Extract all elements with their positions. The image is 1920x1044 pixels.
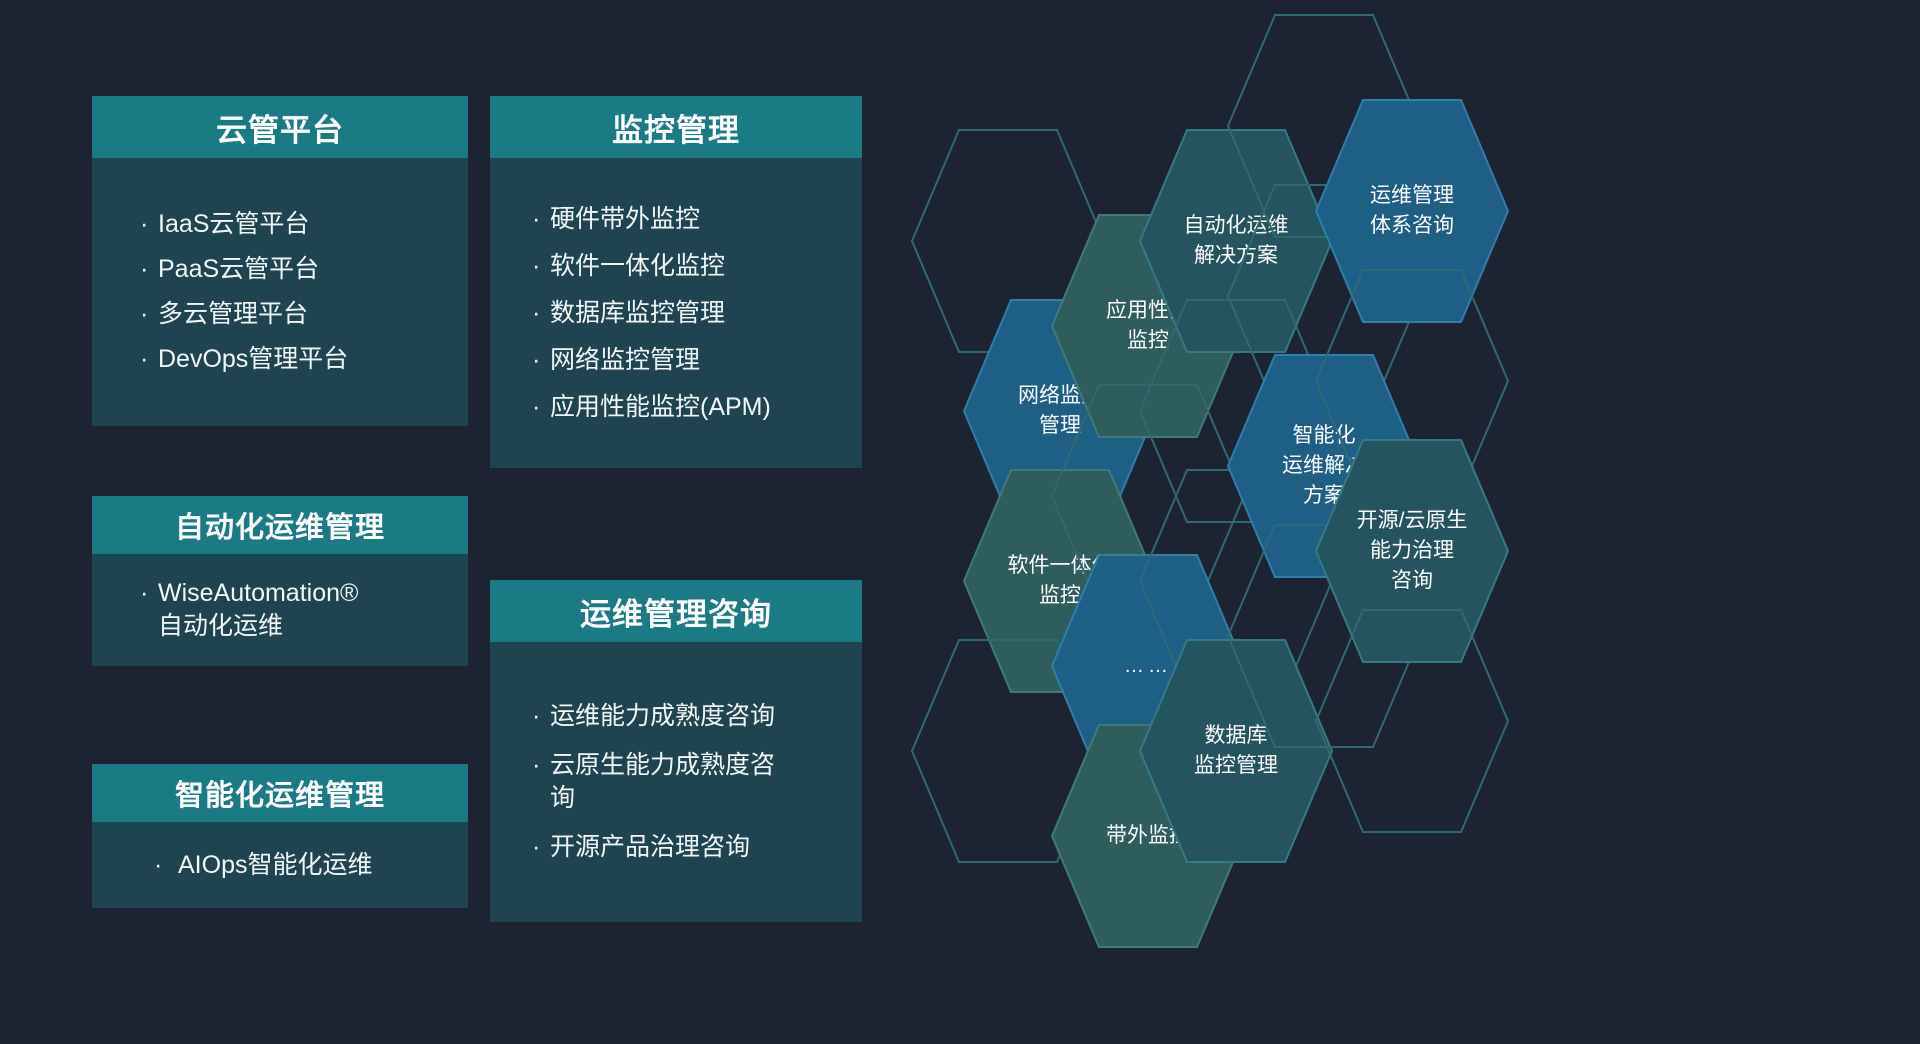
list-item: ·WiseAutomation® 自动化运维: [138, 577, 468, 643]
list-item: ·DevOps管理平台: [138, 343, 468, 376]
list-item-label: 运维能力成熟度咨询: [550, 702, 775, 730]
list-item-label: 硬件带外监控: [550, 205, 700, 233]
list-item-label: 网络监控管理: [550, 346, 700, 374]
card-cloud-platform-list: ·IaaS云管平台 ·PaaS云管平台 ·多云管理平台 ·DevOps管理平台: [138, 196, 468, 388]
list-item-label: 数据库监控管理: [550, 299, 725, 327]
list-item-label: WiseAutomation® 自动化运维: [158, 579, 358, 640]
bullet-dot: ·: [140, 208, 148, 241]
card-ops-consulting-body: ·运维能力成熟度咨询 ·云原生能力成熟度咨 询 ·开源产品治理咨询: [490, 642, 862, 922]
bullet-dot: ·: [532, 391, 540, 424]
list-item: ·硬件带外监控: [530, 203, 862, 236]
slide-canvas: 云管平台 ·IaaS云管平台 ·PaaS云管平台 ·多云管理平台 ·DevOps…: [0, 0, 1920, 1044]
list-item: ·PaaS云管平台: [138, 253, 468, 286]
bullet-dot: ·: [532, 344, 540, 377]
list-item-label: IaaS云管平台: [158, 210, 309, 238]
list-item: ·开源产品治理咨询: [530, 831, 862, 864]
bullet-dot: ·: [140, 298, 148, 331]
list-item: ·云原生能力成熟度咨 询: [530, 749, 862, 815]
card-automation-ops-body: ·WiseAutomation® 自动化运维: [92, 554, 468, 666]
card-monitoring-management[interactable]: 监控管理 ·硬件带外监控 ·软件一体化监控 ·数据库监控管理 ·网络监控管理 ·…: [490, 96, 862, 468]
list-item-label: 应用性能监控(APM): [550, 393, 771, 421]
bullet-dot: ·: [532, 831, 540, 864]
card-ops-consulting-list: ·运维能力成熟度咨询 ·云原生能力成熟度咨 询 ·开源产品治理咨询: [530, 684, 862, 880]
list-item-label: 软件一体化监控: [550, 252, 725, 280]
card-automation-ops-title: 自动化运维管理: [92, 496, 468, 554]
card-cloud-platform[interactable]: 云管平台 ·IaaS云管平台 ·PaaS云管平台 ·多云管理平台 ·DevOps…: [92, 96, 468, 426]
list-item-label: PaaS云管平台: [158, 255, 319, 283]
hexagon-node-empty: [1314, 608, 1510, 834]
card-aiops-ops-body: ·AIOps智能化运维: [92, 822, 468, 908]
card-aiops-ops[interactable]: 智能化运维管理 ·AIOps智能化运维: [92, 764, 468, 908]
bullet-dot: ·: [140, 577, 148, 610]
card-monitoring-management-title: 监控管理: [490, 96, 862, 158]
card-cloud-platform-title: 云管平台: [92, 96, 468, 158]
card-monitoring-management-body: ·硬件带外监控 ·软件一体化监控 ·数据库监控管理 ·网络监控管理 ·应用性能监…: [490, 158, 862, 468]
bullet-dot: ·: [140, 343, 148, 376]
list-item-label: 多云管理平台: [158, 300, 308, 328]
list-item-label: DevOps管理平台: [158, 345, 348, 373]
list-item: ·多云管理平台: [138, 298, 468, 331]
list-item: ·AIOps智能化运维: [152, 849, 468, 882]
card-automation-ops-list: ·WiseAutomation® 自动化运维: [138, 577, 468, 643]
bullet-dot: ·: [532, 700, 540, 733]
card-aiops-ops-title: 智能化运维管理: [92, 764, 468, 822]
bullet-dot: ·: [532, 749, 540, 782]
list-item-label: 云原生能力成熟度咨 询: [550, 751, 775, 812]
list-item: ·数据库监控管理: [530, 297, 862, 330]
card-cloud-platform-body: ·IaaS云管平台 ·PaaS云管平台 ·多云管理平台 ·DevOps管理平台: [92, 158, 468, 426]
list-item-label: AIOps智能化运维: [178, 851, 372, 879]
list-item: ·应用性能监控(APM): [530, 391, 862, 424]
list-item: ·IaaS云管平台: [138, 208, 468, 241]
list-item: ·软件一体化监控: [530, 250, 862, 283]
bullet-dot: ·: [140, 253, 148, 286]
list-item: ·网络监控管理: [530, 344, 862, 377]
card-automation-ops[interactable]: 自动化运维管理 ·WiseAutomation® 自动化运维: [92, 496, 468, 666]
bullet-dot: ·: [532, 250, 540, 283]
card-aiops-ops-list: ·AIOps智能化运维: [138, 849, 468, 882]
bullet-dot: ·: [532, 297, 540, 330]
list-item: ·运维能力成熟度咨询: [530, 700, 862, 733]
card-ops-consulting[interactable]: 运维管理咨询 ·运维能力成熟度咨询 ·云原生能力成熟度咨 询 ·开源产品治理咨询: [490, 580, 862, 922]
bullet-dot: ·: [532, 203, 540, 236]
capability-cards-panel: 云管平台 ·IaaS云管平台 ·PaaS云管平台 ·多云管理平台 ·DevOps…: [0, 0, 900, 1044]
card-monitoring-management-list: ·硬件带外监控 ·软件一体化监控 ·数据库监控管理 ·网络监控管理 ·应用性能监…: [530, 189, 862, 438]
card-ops-consulting-title: 运维管理咨询: [490, 580, 862, 642]
list-item-label: 开源产品治理咨询: [550, 833, 750, 861]
hexagon-diagram: 网络监控 管理软件一体化 监控应用性能 监控……带外监控自动化运维 解决方案数据…: [910, 0, 1920, 1044]
bullet-dot: ·: [154, 849, 162, 882]
